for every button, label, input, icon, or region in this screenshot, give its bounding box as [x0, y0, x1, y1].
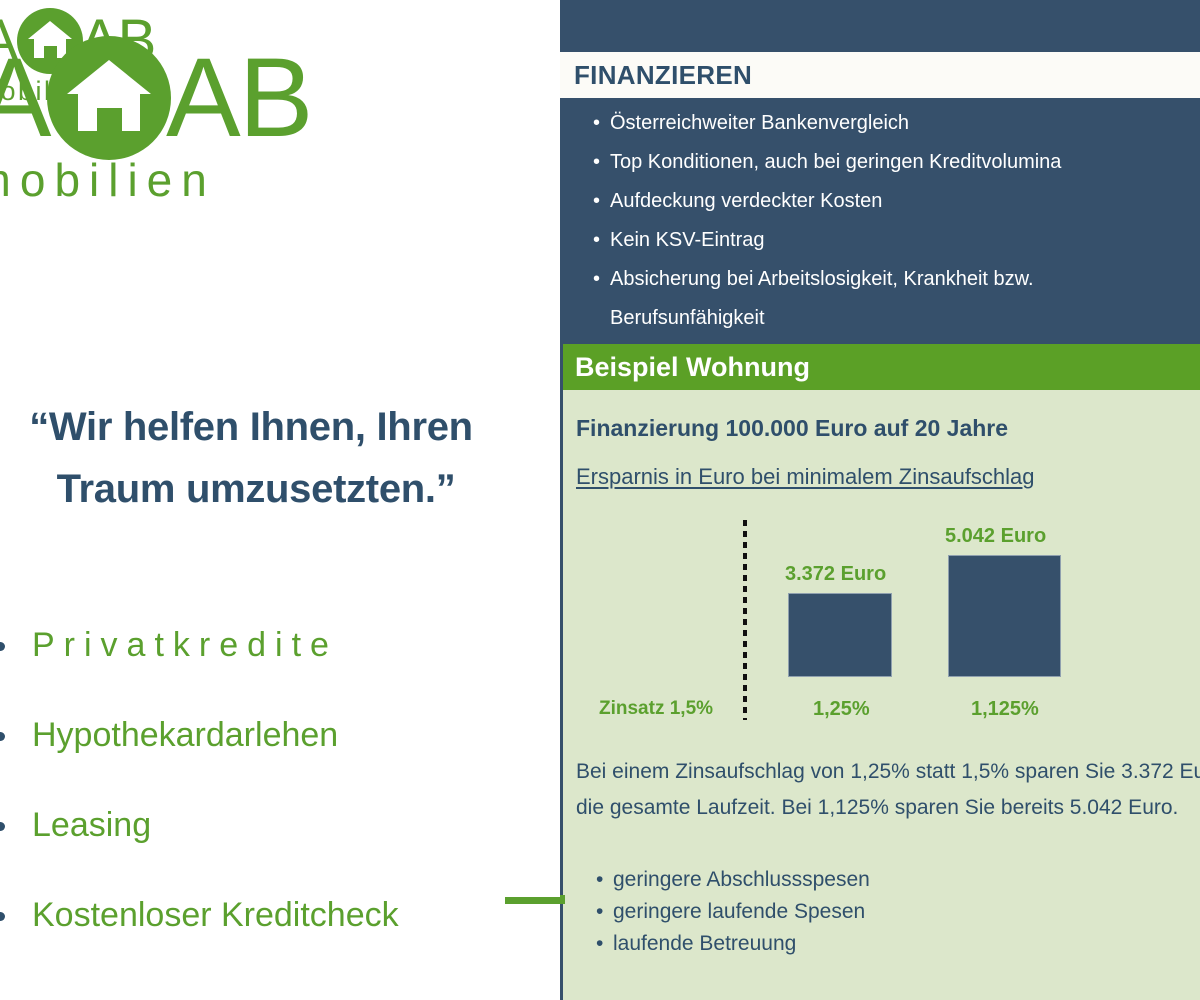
- pull-quote: “Wir helfen Ihnen, Ihren Traum umzusetzt…: [0, 396, 512, 520]
- connector-stub: [560, 895, 565, 904]
- quote-line-2: Traum umzusetzten.”: [0, 458, 512, 520]
- svg-text:immobilien: immobilien: [0, 154, 216, 206]
- feature-item-absicherung: Absicherung bei Arbeitslosigkeit, Krankh…: [560, 260, 1200, 338]
- svg-text:AB: AB: [166, 36, 311, 160]
- feature-item-konditionen: Top Konditionen, auch bei geringen Kredi…: [560, 143, 1200, 182]
- quote-line-1: “Wir helfen Ihnen, Ihren: [0, 396, 512, 458]
- chart-bar-2-value: 5.042 Euro: [945, 525, 1046, 548]
- chart-bar-1: [788, 593, 892, 677]
- feature-item-kosten: Aufdeckung verdeckter Kosten: [560, 182, 1200, 221]
- chart-baseline-divider: [743, 520, 747, 720]
- benefits-list: geringere Abschlussspesen geringere lauf…: [563, 864, 1183, 960]
- chart-baseline-label: Zinsatz 1,5%: [599, 698, 713, 720]
- chart-bar-1-category: 1,25%: [813, 698, 870, 721]
- benefit-item-laufende-spesen: geringere laufende Spesen: [563, 896, 1183, 928]
- chart-bar-1-value: 3.372 Euro: [785, 563, 886, 586]
- benefit-item-abschlussspesen: geringere Abschlussspesen: [563, 864, 1183, 896]
- service-item-leasing: Leasing: [0, 780, 526, 870]
- chart-bar-2: [948, 555, 1061, 677]
- example-banner: Beispiel Wohnung: [563, 344, 1200, 390]
- feature-item-ksv: Kein KSV-Eintrag: [560, 221, 1200, 260]
- service-item-kostenloser-kreditcheck: Kostenloser Kreditcheck: [0, 870, 526, 960]
- chart-bar-2-category: 1,125%: [971, 698, 1039, 721]
- savings-bar-chart: Zinsatz 1,5% 3.372 Euro 1,25% 5.042 Euro…: [563, 505, 1200, 720]
- section-banner-finanzieren: FINANZIEREN: [560, 52, 1200, 98]
- section-title: FINANZIEREN: [574, 60, 752, 91]
- example-content: Finanzierung 100.000 Euro auf 20 Jahre E…: [563, 390, 1200, 1000]
- chart-caption: Ersparnis in Euro bei minimalem Zinsaufs…: [576, 464, 1035, 490]
- left-column: BA AB immobilien BA AB immobilien “Wir h…: [0, 0, 560, 1000]
- financing-headline: Finanzierung 100.000 Euro auf 20 Jahre: [576, 415, 1008, 442]
- summary-paragraph: Bei einem Zinsaufschlag von 1,25% statt …: [576, 754, 1200, 826]
- connector-line: [505, 897, 560, 904]
- feature-absicherung-line2: Berufsunfähigkeit: [610, 299, 1200, 338]
- right-panel: FINANZIEREN Österreichweiter Bankenvergl…: [560, 0, 1200, 1000]
- finanzieren-feature-list: Österreichweiter Bankenvergleich Top Kon…: [560, 104, 1200, 338]
- example-title: Beispiel Wohnung: [575, 352, 810, 383]
- svg-text:BA: BA: [0, 36, 52, 160]
- service-item-privatkredite: Privatkredite: [0, 600, 526, 690]
- baobab-logo-large: BA AB immobilien: [0, 36, 404, 206]
- feature-item-bankenvergleich: Österreichweiter Bankenvergleich: [560, 104, 1200, 143]
- services-list: Privatkredite Hypothekardarlehen Leasing…: [0, 600, 526, 960]
- service-item-hypothekardarlehen: Hypothekardarlehen: [0, 690, 526, 780]
- benefit-item-betreuung: laufende Betreuung: [563, 928, 1183, 960]
- flyer-page: BA AB immobilien BA AB immobilien “Wir h…: [0, 0, 1200, 1000]
- feature-absicherung-line1: Absicherung bei Arbeitslosigkeit, Krankh…: [610, 268, 1034, 290]
